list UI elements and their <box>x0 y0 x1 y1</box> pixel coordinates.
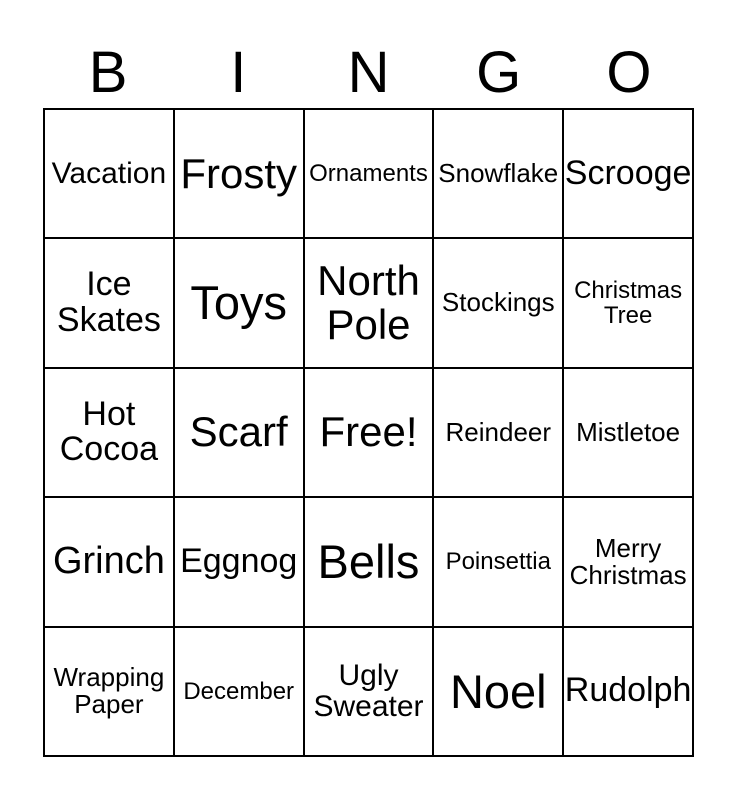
bingo-cell[interactable]: Free! <box>305 369 435 498</box>
bingo-cell-label: Scarf <box>190 410 288 454</box>
bingo-cell[interactable]: Christmas Tree <box>564 239 694 368</box>
bingo-cell[interactable]: Snowflake <box>434 110 564 239</box>
bingo-cell-label: Snowflake <box>438 160 558 187</box>
bingo-header: B I N G O <box>43 26 694 108</box>
bingo-cell-label: Free! <box>319 410 417 454</box>
bingo-cell-label: Eggnog <box>180 544 297 580</box>
bingo-cell[interactable]: Ugly Sweater <box>305 628 435 757</box>
bingo-cell[interactable]: Ice Skates <box>45 239 175 368</box>
bingo-cell[interactable]: Merry Christmas <box>564 498 694 627</box>
bingo-cell[interactable]: Wrapping Paper <box>45 628 175 757</box>
header-column-g: G <box>434 26 564 108</box>
bingo-cell-label: Reindeer <box>446 419 552 446</box>
bingo-cell-label: Poinsettia <box>446 549 551 574</box>
bingo-cell-label: Mistletoe <box>576 419 680 446</box>
bingo-cell-label: Toys <box>190 278 287 327</box>
header-column-n: N <box>303 26 433 108</box>
bingo-cell[interactable]: Bells <box>305 498 435 627</box>
bingo-cell[interactable]: Poinsettia <box>434 498 564 627</box>
bingo-cell-label: Wrapping Paper <box>53 664 164 719</box>
bingo-cell[interactable]: Noel <box>434 628 564 757</box>
bingo-cell[interactable]: Hot Cocoa <box>45 369 175 498</box>
bingo-grid: VacationFrostyOrnamentsSnowflakeScroogeI… <box>43 108 694 757</box>
header-letter: G <box>476 44 521 102</box>
bingo-cell[interactable]: Stockings <box>434 239 564 368</box>
header-column-o: O <box>564 26 694 108</box>
bingo-cell-label: Christmas Tree <box>574 278 682 328</box>
header-letter: O <box>606 44 651 102</box>
header-letter: B <box>89 44 128 102</box>
bingo-cell[interactable]: Mistletoe <box>564 369 694 498</box>
bingo-cell[interactable]: North Pole <box>305 239 435 368</box>
header-column-b: B <box>43 26 173 108</box>
bingo-cell[interactable]: Toys <box>175 239 305 368</box>
bingo-cell-label: Ugly Sweater <box>313 660 423 723</box>
bingo-cell-label: Ice Skates <box>57 267 161 338</box>
header-letter: I <box>230 44 246 102</box>
header-letter: N <box>348 44 390 102</box>
bingo-cell[interactable]: Rudolph <box>564 628 694 757</box>
bingo-cell[interactable]: Vacation <box>45 110 175 239</box>
bingo-cell[interactable]: December <box>175 628 305 757</box>
bingo-cell-label: Bells <box>318 537 420 586</box>
bingo-cell-label: Rudolph <box>565 673 692 709</box>
bingo-cell[interactable]: Reindeer <box>434 369 564 498</box>
bingo-cell-label: Frosty <box>180 152 297 196</box>
bingo-cell[interactable]: Ornaments <box>305 110 435 239</box>
bingo-cell[interactable]: Scarf <box>175 369 305 498</box>
bingo-cell-label: Scrooge <box>565 156 692 192</box>
bingo-cell[interactable]: Grinch <box>45 498 175 627</box>
bingo-cell-label: Merry Christmas <box>570 535 687 590</box>
bingo-cell-label: December <box>183 679 294 704</box>
bingo-cell[interactable]: Frosty <box>175 110 305 239</box>
bingo-cell-label: Noel <box>450 667 547 716</box>
bingo-cell-label: Ornaments <box>309 161 428 186</box>
bingo-card: B I N G O VacationFrostyOrnamentsSnowfla… <box>0 0 736 800</box>
bingo-cell-label: Grinch <box>53 542 165 582</box>
bingo-cell-label: North Pole <box>317 259 420 347</box>
bingo-cell-label: Vacation <box>52 158 167 190</box>
header-column-i: I <box>173 26 303 108</box>
bingo-cell-label: Hot Cocoa <box>60 397 158 468</box>
bingo-cell[interactable]: Eggnog <box>175 498 305 627</box>
bingo-cell-label: Stockings <box>442 289 555 316</box>
bingo-cell[interactable]: Scrooge <box>564 110 694 239</box>
